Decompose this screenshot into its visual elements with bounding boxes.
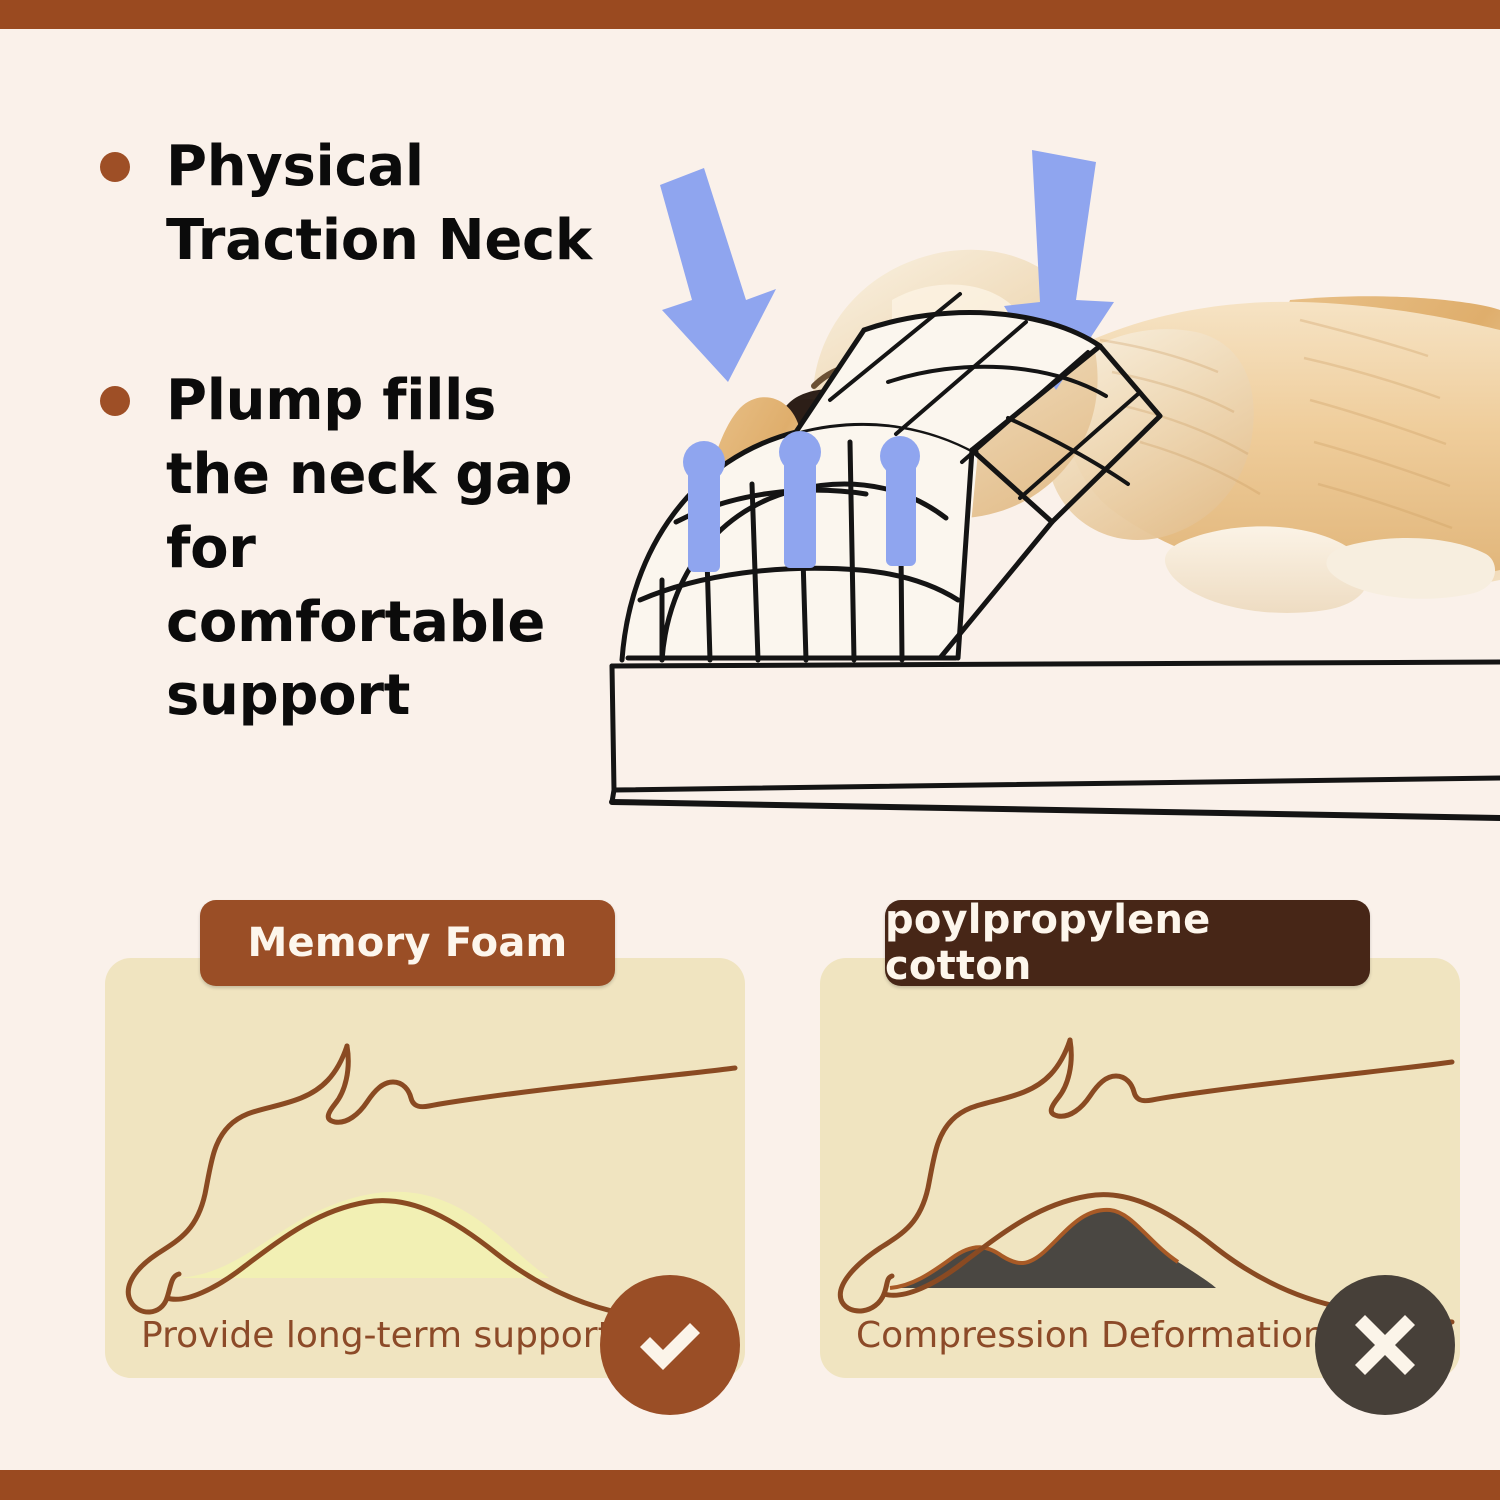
support-arrow-up-3 (880, 436, 920, 566)
comparison-section: Provide long-term support Memory Foam (0, 900, 1500, 1440)
panel-caption-right: Compression Deformation (856, 1315, 1326, 1356)
infographic-page: Physical Traction Neck Plump fills the n… (0, 0, 1500, 1500)
feature-bullet-label: Plump fills the neck gap for comfortable… (166, 364, 596, 734)
hero-illustration (600, 150, 1500, 870)
hero-scene (600, 150, 1500, 870)
bullet-dot-icon (100, 386, 130, 416)
support-arrow-up-2 (779, 431, 821, 568)
bullet-dot-icon (100, 152, 130, 182)
top-brand-bar (0, 0, 1500, 29)
feature-bullet-label: Physical Traction Neck (166, 130, 636, 278)
compressed-filling-shape (890, 1210, 1216, 1288)
verdict-bad-badge (1315, 1275, 1455, 1415)
badge-memory-foam: Memory Foam (200, 900, 615, 986)
check-icon (626, 1301, 714, 1389)
support-arrow-up-1 (683, 441, 725, 572)
verdict-good-badge (600, 1275, 740, 1415)
bottom-brand-bar (0, 1470, 1500, 1500)
cross-icon (1341, 1301, 1429, 1389)
pressure-arrow-down-left (660, 168, 776, 382)
badge-poly-cotton: poylpropylene cotton (885, 900, 1370, 986)
panel-caption-left: Provide long-term support (141, 1315, 612, 1356)
